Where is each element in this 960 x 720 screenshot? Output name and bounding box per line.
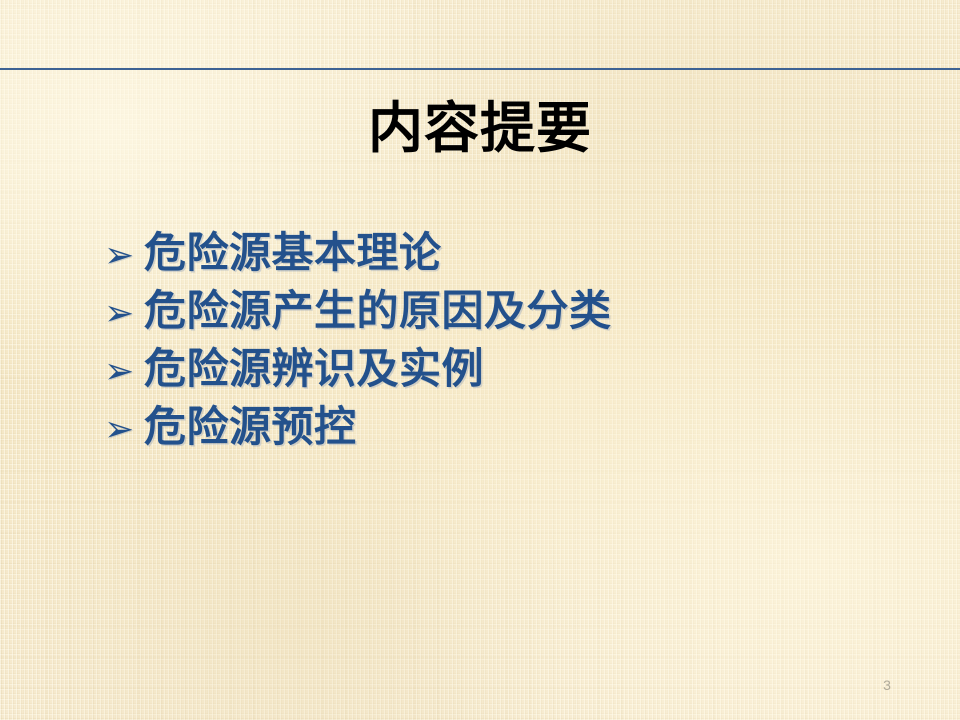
title-divider-rule	[0, 68, 960, 70]
arrowhead-bullet-icon: ➢	[104, 227, 144, 285]
list-item-label: 危险源辨识及实例	[144, 340, 484, 398]
list-item[interactable]: ➢ 危险源辨识及实例	[104, 340, 904, 398]
list-item-label: 危险源基本理论	[144, 224, 442, 282]
arrowhead-bullet-icon: ➢	[104, 285, 144, 343]
list-item[interactable]: ➢ 危险源产生的原因及分类	[104, 282, 904, 340]
list-item-label: 危险源预控	[144, 398, 357, 456]
list-item[interactable]: ➢ 危险源预控	[104, 398, 904, 456]
arrowhead-bullet-icon: ➢	[104, 401, 144, 459]
page-title: 内容提要	[0, 96, 960, 160]
presentation-slide: 内容提要 ➢ 危险源基本理论 ➢ 危险源产生的原因及分类 ➢ 危险源辨识及实例 …	[0, 0, 960, 720]
page-number: 3	[872, 676, 902, 694]
list-item[interactable]: ➢ 危险源基本理论	[104, 224, 904, 282]
arrowhead-bullet-icon: ➢	[104, 343, 144, 401]
content-outline-list: ➢ 危险源基本理论 ➢ 危险源产生的原因及分类 ➢ 危险源辨识及实例 ➢ 危险源…	[104, 224, 904, 456]
list-item-label: 危险源产生的原因及分类	[144, 282, 612, 340]
